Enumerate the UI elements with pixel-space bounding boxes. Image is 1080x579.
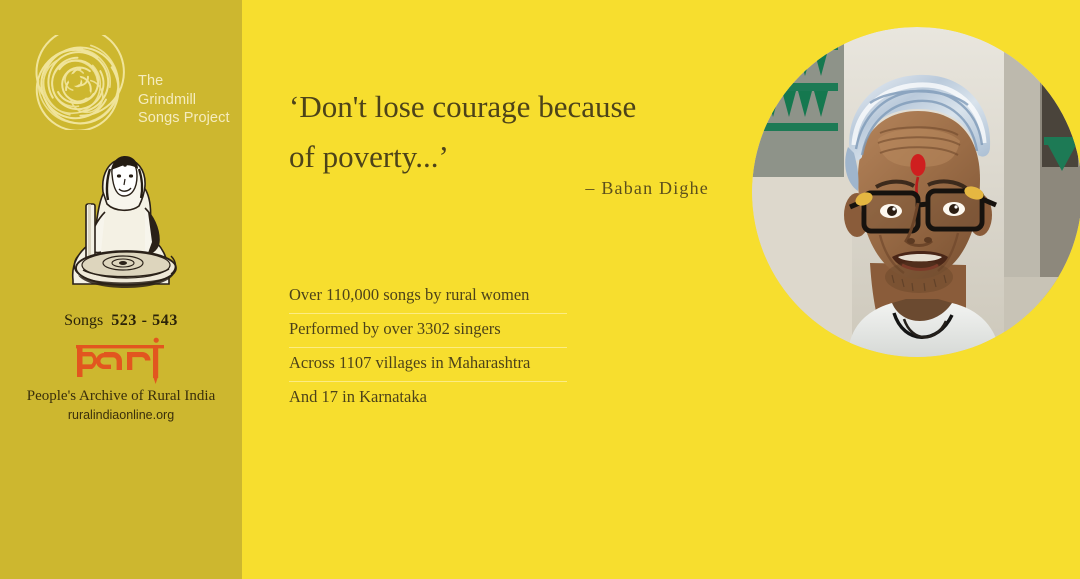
stat-row: Over 110,000 songs by rural women (289, 280, 567, 314)
quote-attribution: – Baban Dighe (289, 178, 709, 199)
sidebar: The Grindmill Songs Project (0, 0, 242, 579)
pari-full-name: People's Archive of Rural India (0, 388, 242, 405)
woman-at-grindmill-illustration (53, 138, 188, 293)
brand-name: The Grindmill Songs Project (138, 72, 230, 128)
grindmill-songs-quote-card: The Grindmill Songs Project (0, 0, 1080, 579)
stat-row: Across 1107 villages in Maharashtra (289, 348, 567, 382)
songs-range-label: Songs 523 - 543 (0, 312, 242, 330)
stat-row: And 17 in Karnataka (289, 382, 567, 416)
grindmill-logo-block: The Grindmill Songs Project (30, 35, 235, 135)
brand-line-3: Songs Project (138, 109, 230, 128)
songs-word: Songs (64, 312, 103, 329)
songs-range-value: 523 - 543 (111, 312, 178, 329)
pari-wordmark-logo[interactable] (0, 336, 242, 384)
stat-row: Performed by over 3302 singers (289, 314, 567, 348)
quote-line-1: ‘Don't lose courage because (289, 82, 699, 132)
baban-dighe-portrait-image (752, 27, 1080, 357)
portrait-photo (752, 27, 1080, 357)
brand-line-1: The (138, 72, 230, 91)
statistics-list: Over 110,000 songs by rural women Perfor… (289, 280, 567, 416)
quote-text: ‘Don't lose courage because of poverty..… (289, 82, 699, 182)
brand-line-2: Grindmill (138, 91, 230, 110)
grindmill-spiral-icon (30, 35, 125, 130)
quote-line-2: of poverty...’ (289, 132, 699, 182)
pari-website-url[interactable]: ruralindiaonline.org (0, 408, 242, 422)
